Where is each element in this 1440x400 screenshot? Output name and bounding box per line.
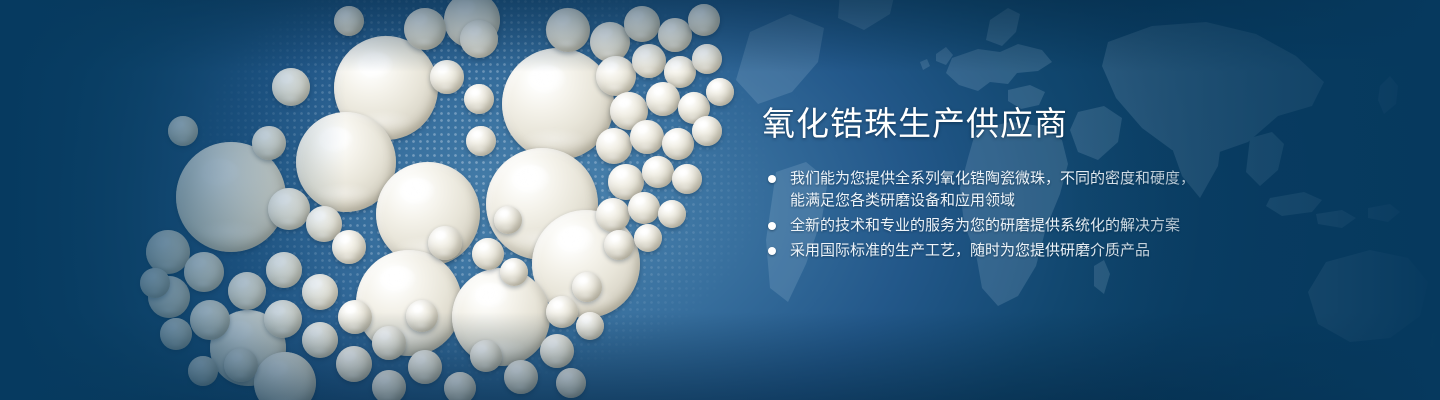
edge-vignette-overlay: [0, 0, 1440, 400]
product-hero-banner: 氧化锆珠生产供应商 我们能为您提供全系列氧化锆陶瓷微珠，不同的密度和硬度， 能满…: [0, 0, 1440, 400]
